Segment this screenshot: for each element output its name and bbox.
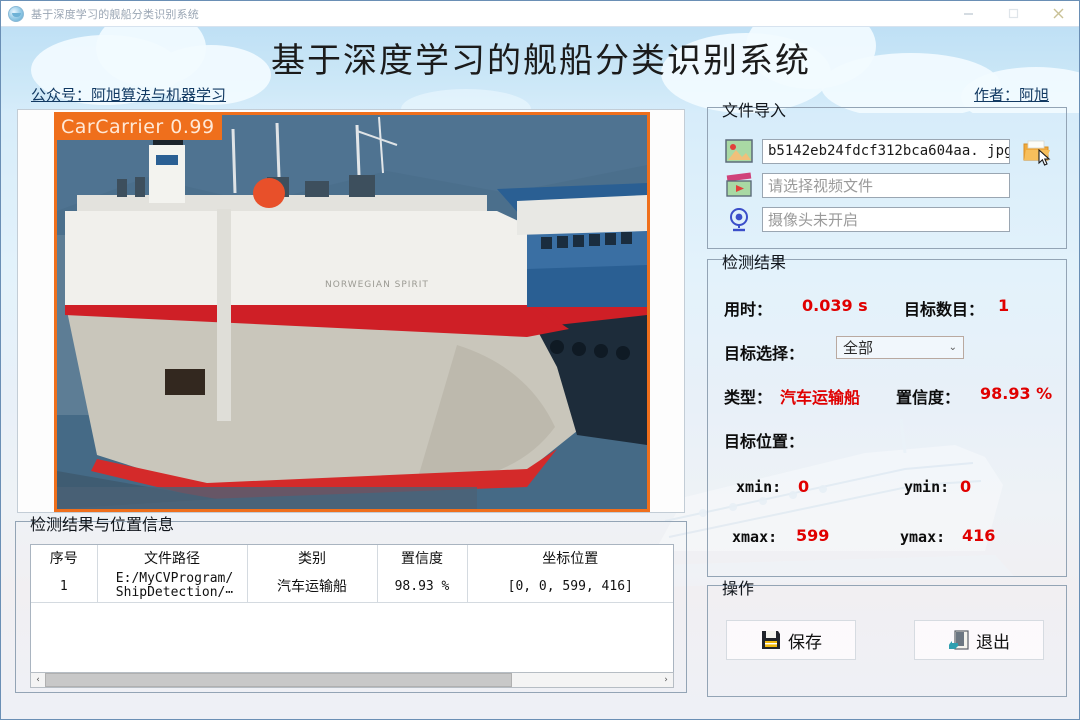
scroll-right-arrow-icon[interactable]: › xyxy=(659,673,673,687)
detection-label: CarCarrier 0.99 xyxy=(57,115,222,140)
video-path-input[interactable]: 请选择视频文件 xyxy=(762,173,1010,198)
video-file-row: 请选择视频文件 xyxy=(724,172,1010,198)
position-label: 目标位置： xyxy=(724,428,804,452)
mouse-cursor-icon xyxy=(1038,149,1052,167)
column-header-confidence: 置信度 xyxy=(377,545,467,570)
target-select-label: 目标选择： xyxy=(724,340,804,364)
table-horizontal-scrollbar[interactable]: ‹ › xyxy=(30,672,674,688)
ymax-label: ymax: xyxy=(900,528,945,546)
type-value: 汽车运输船 xyxy=(780,384,860,408)
xmin-value: 0 xyxy=(798,477,809,496)
ymin-label: ymin: xyxy=(904,478,949,496)
exit-button[interactable]: 退出 xyxy=(914,620,1044,660)
xmax-value: 599 xyxy=(796,526,829,545)
column-header-path: 文件路径 xyxy=(97,545,247,570)
results-table-group-label: 检测结果与位置信息 xyxy=(25,511,179,535)
file-import-group: 文件导入 b5142eb24fdcf312bca604aa. jpg xyxy=(707,107,1067,249)
scrollbar-track[interactable] xyxy=(45,673,659,687)
exit-button-label: 退出 xyxy=(976,628,1010,653)
app-logo-icon xyxy=(8,6,24,22)
column-header-coords: 坐标位置 xyxy=(467,545,673,570)
save-button[interactable]: 保存 xyxy=(726,620,856,660)
camera-status-input[interactable]: 摄像头未开启 xyxy=(762,207,1010,232)
results-table-container[interactable]: 序号 文件路径 类别 置信度 坐标位置 1 E:/MyCVProgram/ Sh… xyxy=(30,544,674,677)
ymax-value: 416 xyxy=(962,526,995,545)
image-display-area[interactable]: NORWEGIAN SPIRIT CarCarrier 0.99 xyxy=(17,109,685,513)
column-header-category: 类别 xyxy=(247,545,377,570)
detection-results-group-label: 检测结果 xyxy=(717,249,791,273)
cell-category: 汽车运输船 xyxy=(247,570,377,603)
minimize-button[interactable] xyxy=(946,1,991,27)
window-titlebar: 基于深度学习的舰船分类识别系统 xyxy=(1,1,1080,27)
detection-results-group: 检测结果 用时： 0.039 s 目标数目： 1 目标选择： 全部 ⌄ 类型： … xyxy=(707,259,1067,577)
maximize-button[interactable] xyxy=(991,1,1036,27)
confidence-label: 置信度： xyxy=(896,384,960,408)
chevron-down-icon: ⌄ xyxy=(949,342,957,353)
confidence-value: 98.93 % xyxy=(980,384,1052,403)
scrollbar-thumb[interactable] xyxy=(45,673,512,687)
count-label: 目标数目： xyxy=(904,296,984,320)
file-import-group-label: 文件导入 xyxy=(717,97,791,121)
target-select-value: 全部 xyxy=(843,337,873,358)
table-row[interactable]: 1 E:/MyCVProgram/ ShipDetection/⋯ 汽车运输船 … xyxy=(31,570,673,603)
image-file-row: b5142eb24fdcf312bca604aa. jpg xyxy=(724,138,1050,164)
target-select-dropdown[interactable]: 全部 ⌄ xyxy=(836,336,964,359)
type-label: 类型： xyxy=(724,384,772,408)
scroll-left-arrow-icon[interactable]: ‹ xyxy=(31,673,45,687)
results-table-group: 检测结果与位置信息 序号 文件路径 类别 置信度 坐标位置 1 E:/MyCVP… xyxy=(15,521,687,693)
picture-icon xyxy=(724,138,754,164)
column-header-index: 序号 xyxy=(31,545,97,570)
webcam-icon xyxy=(724,206,754,232)
ymin-value: 0 xyxy=(960,477,971,496)
time-value: 0.039 s xyxy=(802,296,868,315)
count-value: 1 xyxy=(998,296,1009,315)
time-label: 用时： xyxy=(724,296,772,320)
subtitle-author: 作者：阿旭 xyxy=(974,84,1049,105)
video-clapper-icon xyxy=(724,172,754,198)
window-title: 基于深度学习的舰船分类识别系统 xyxy=(31,6,199,22)
camera-row: 摄像头未开启 xyxy=(724,206,1010,232)
app-window: 基于深度学习的舰船分类识别系统 基于深度学习的舰船分类识别系统 公众号：阿旭算法… xyxy=(0,0,1080,720)
table-header-row: 序号 文件路径 类别 置信度 坐标位置 xyxy=(31,545,673,570)
xmin-label: xmin: xyxy=(736,478,781,496)
xmax-label: xmax: xyxy=(732,528,777,546)
cell-coords: [0, 0, 599, 416] xyxy=(467,570,673,603)
subtitle-public-account: 公众号：阿旭算法与机器学习 xyxy=(31,84,226,105)
floppy-disk-icon xyxy=(760,629,782,651)
close-button[interactable] xyxy=(1036,1,1080,27)
exit-door-icon xyxy=(948,629,970,651)
cell-index: 1 xyxy=(31,570,97,603)
operations-group-label: 操作 xyxy=(717,575,759,599)
operations-group: 操作 保存 退出 xyxy=(707,585,1067,697)
svg-text:NORWEGIAN SPIRIT: NORWEGIAN SPIRIT xyxy=(325,280,429,290)
cell-confidence: 98.93 % xyxy=(377,570,467,603)
cell-path: E:/MyCVProgram/ ShipDetection/⋯ xyxy=(97,570,247,603)
ship-photo: NORWEGIAN SPIRIT xyxy=(57,115,647,509)
page-title: 基于深度学习的舰船分类识别系统 xyxy=(1,33,1080,82)
detected-image: NORWEGIAN SPIRIT CarCarrier 0.99 xyxy=(54,112,650,512)
image-path-input[interactable]: b5142eb24fdcf312bca604aa. jpg xyxy=(762,139,1010,164)
save-button-label: 保存 xyxy=(788,628,822,653)
results-table: 序号 文件路径 类别 置信度 坐标位置 1 E:/MyCVProgram/ Sh… xyxy=(31,545,673,603)
browse-image-button[interactable] xyxy=(1022,138,1050,164)
